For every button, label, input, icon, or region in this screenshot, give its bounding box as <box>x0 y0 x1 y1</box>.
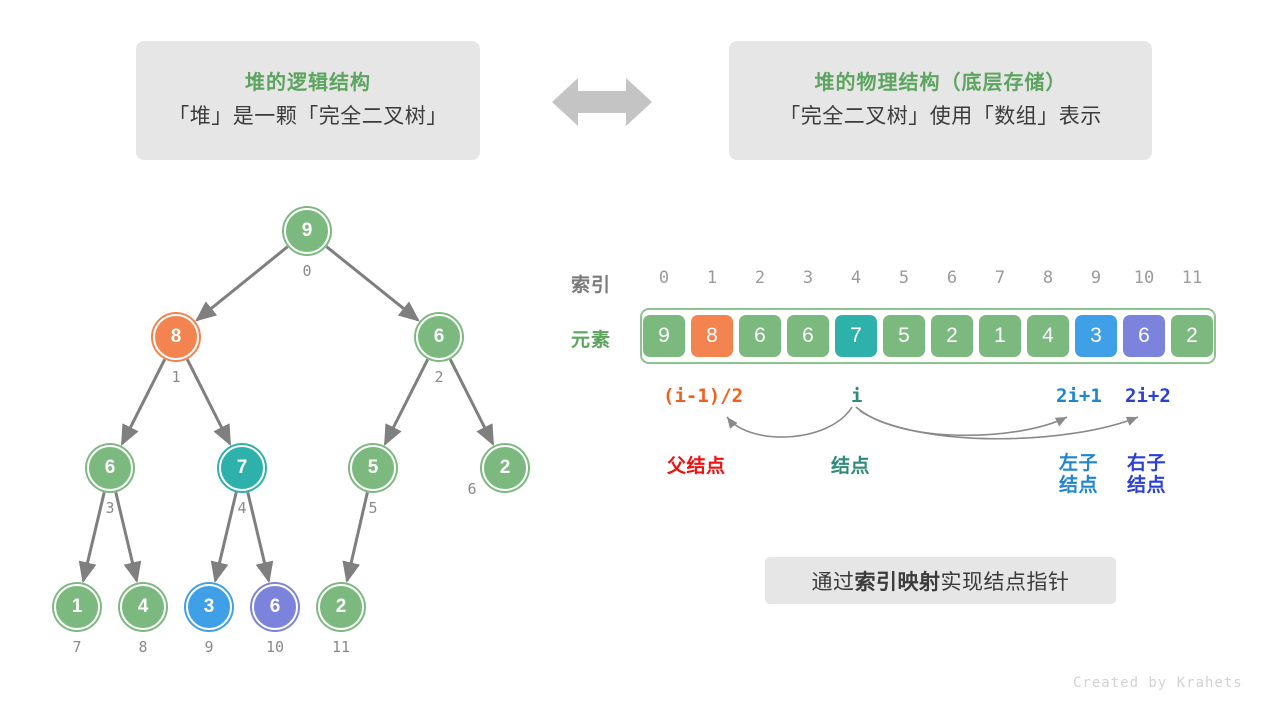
formula-role-line: 父结点 <box>667 456 726 478</box>
tree-nodes: 90816263745526174839610211 <box>0 0 620 720</box>
array-cell-0: 9 <box>643 315 685 357</box>
right-child-arrow <box>860 411 1138 439</box>
tree-node-value: 9 <box>302 220 313 242</box>
formula-expr-left: 2i+1 <box>1056 385 1102 407</box>
tree-node-11: 2 <box>318 584 364 630</box>
formula-role-self: 结点 <box>831 456 870 478</box>
tree-node-4: 7 <box>219 445 265 491</box>
left-child-arrow <box>856 407 1067 435</box>
formula-expr-right: 2i+2 <box>1125 385 1171 407</box>
tree-node-value: 8 <box>171 326 182 348</box>
array-index-10: 10 <box>1120 268 1168 288</box>
tree-node-8: 4 <box>120 584 166 630</box>
array-cell-4: 7 <box>835 315 877 357</box>
tree-node-value: 1 <box>72 596 83 618</box>
array-index-2: 2 <box>736 268 784 288</box>
array-cell-5: 5 <box>883 315 925 357</box>
tree-node-index-3: 3 <box>97 499 123 517</box>
tree-node-9: 3 <box>186 584 232 630</box>
tree-node-value: 4 <box>138 596 149 618</box>
physical-structure-header-box: 堆的物理结构（底层存储） 「完全二叉树」使用「数组」表示 <box>729 41 1152 160</box>
physical-structure-title: 堆的物理结构（底层存储） <box>815 71 1067 95</box>
tree-node-index-10: 10 <box>262 638 288 656</box>
formula-role-line: 右子 <box>1127 453 1166 475</box>
tree-node-10: 6 <box>252 584 298 630</box>
physical-structure-subtitle: 「完全二叉树」使用「数组」表示 <box>779 104 1102 129</box>
array-cell-10: 6 <box>1123 315 1165 357</box>
tree-node-5: 5 <box>350 445 396 491</box>
array-cell-2: 6 <box>739 315 781 357</box>
tree-node-index-8: 8 <box>130 638 156 656</box>
formula-role-right: 右子结点 <box>1127 453 1166 497</box>
formula-role-line: 结点 <box>1059 475 1098 497</box>
array-cell-3: 6 <box>787 315 829 357</box>
formula-expr-parent: (i-1)/2 <box>663 385 743 407</box>
index-mapping-note: 通过索引映射实现结点指针 <box>765 557 1116 604</box>
array-cell-7: 1 <box>979 315 1021 357</box>
tree-node-7: 1 <box>54 584 100 630</box>
tree-node-index-4: 4 <box>229 499 255 517</box>
tree-node-value: 7 <box>237 457 248 479</box>
tree-node-index-1: 1 <box>163 368 189 386</box>
array-index-1: 1 <box>688 268 736 288</box>
formula-role-line: 结点 <box>831 456 870 478</box>
tree-node-value: 6 <box>105 457 116 479</box>
tree-node-1: 8 <box>153 314 199 360</box>
array-index-7: 7 <box>976 268 1024 288</box>
array-cell-9: 3 <box>1075 315 1117 357</box>
tree-node-2: 6 <box>416 314 462 360</box>
tree-node-index-11: 11 <box>328 638 354 656</box>
tree-node-value: 5 <box>368 457 379 479</box>
note-emphasis: 索引映射 <box>855 566 941 596</box>
tree-node-index-2: 2 <box>426 368 452 386</box>
array-index-11: 11 <box>1168 268 1216 288</box>
tree-node-index-6: 6 <box>459 480 485 498</box>
array-element-row-label: 元素 <box>571 325 611 352</box>
footer-credit: Created by Krahets <box>1073 675 1243 691</box>
tree-node-value: 6 <box>434 326 445 348</box>
tree-node-6: 2 <box>482 445 528 491</box>
array-cell-6: 2 <box>931 315 973 357</box>
array-index-row-label: 索引 <box>571 270 611 297</box>
array-index-0: 0 <box>640 268 688 288</box>
formula-role-parent: 父结点 <box>667 456 726 478</box>
tree-node-index-9: 9 <box>196 638 222 656</box>
tree-node-0: 9 <box>284 208 330 254</box>
formula-role-left: 左子结点 <box>1059 453 1098 497</box>
diagram-canvas: 堆的逻辑结构 「堆」是一颗「完全二叉树」 堆的物理结构（底层存储） 「完全二叉树… <box>0 0 1280 720</box>
array-index-3: 3 <box>784 268 832 288</box>
array-cell-1: 8 <box>691 315 733 357</box>
array-index-9: 9 <box>1072 268 1120 288</box>
array-cell-8: 4 <box>1027 315 1069 357</box>
note-prefix: 通过 <box>812 566 855 596</box>
formula-role-line: 结点 <box>1127 475 1166 497</box>
note-suffix: 实现结点指针 <box>941 566 1070 596</box>
array-index-4: 4 <box>832 268 880 288</box>
tree-node-index-5: 5 <box>360 499 386 517</box>
array-cell-11: 2 <box>1171 315 1213 357</box>
tree-node-index-0: 0 <box>294 262 320 280</box>
array-index-6: 6 <box>928 268 976 288</box>
tree-node-value: 3 <box>204 596 215 618</box>
parent-arrow <box>727 407 852 437</box>
tree-node-3: 6 <box>87 445 133 491</box>
tree-node-index-7: 7 <box>64 638 90 656</box>
array-index-5: 5 <box>880 268 928 288</box>
tree-node-value: 2 <box>336 596 347 618</box>
tree-node-value: 2 <box>500 457 511 479</box>
tree-node-value: 6 <box>270 596 281 618</box>
formula-expr-self: i <box>851 385 862 407</box>
formula-role-line: 左子 <box>1059 453 1098 475</box>
array-index-8: 8 <box>1024 268 1072 288</box>
